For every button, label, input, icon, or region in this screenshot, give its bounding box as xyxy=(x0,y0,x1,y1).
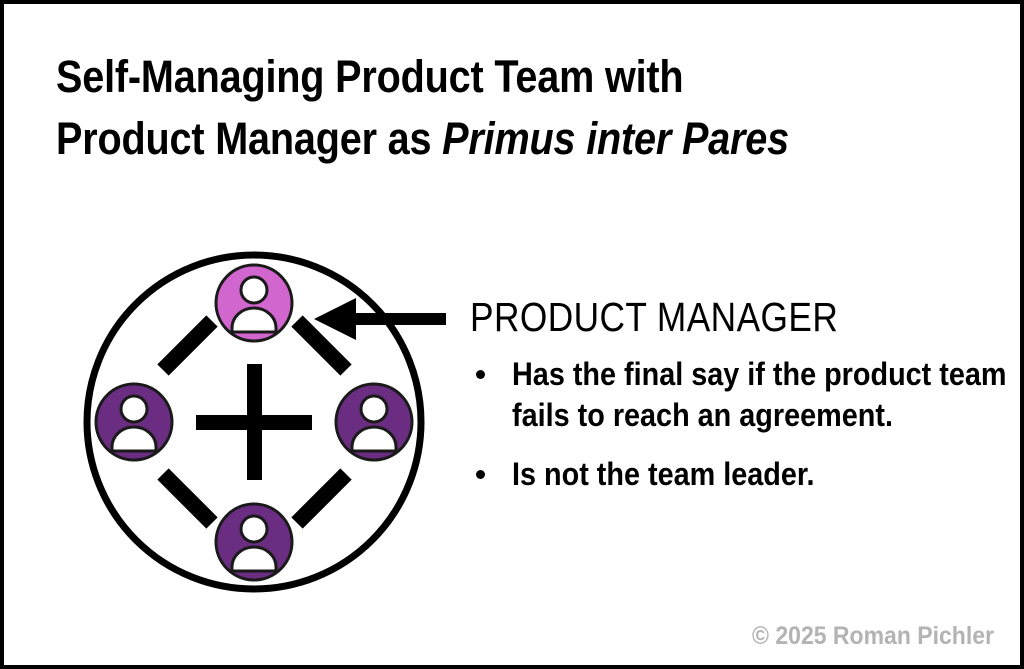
bullet-text: Is not the team leader. xyxy=(512,454,1009,495)
page-title: Self-Managing Product Team with Product … xyxy=(56,46,976,170)
connector-bottom-right xyxy=(297,474,346,523)
person-icon-head xyxy=(241,516,267,542)
avatar-product-manager[interactable] xyxy=(216,265,292,341)
team-diagram xyxy=(66,242,446,602)
avatar-team-member-bottom[interactable] xyxy=(216,504,292,580)
slide-canvas: Self-Managing Product Team with Product … xyxy=(0,0,1024,669)
connector-bottom-left xyxy=(163,474,212,523)
bullet-dot-icon xyxy=(476,470,485,479)
product-manager-callout-panel: PRODUCT MANAGER Has the final say if the… xyxy=(470,294,1010,513)
list-item: Is not the team leader. xyxy=(470,454,1010,495)
copyright-notice: © 2025 Roman Pichler xyxy=(752,621,994,651)
title-line-2-emphasis: Primus inter Pares xyxy=(442,113,789,164)
title-line-1: Self-Managing Product Team with xyxy=(56,46,866,108)
cross-horizontal-bar xyxy=(196,415,312,430)
center-cross-icon xyxy=(196,364,312,480)
avatar-team-member-left[interactable] xyxy=(96,384,172,460)
panel-bullet-list: Has the final say if the product team fa… xyxy=(470,354,1010,495)
connector-top-left xyxy=(163,321,212,370)
callout-arrow-to-product-manager xyxy=(314,298,446,340)
bullet-text: Has the final say if the product team fa… xyxy=(512,354,1009,436)
person-icon-head xyxy=(241,277,267,303)
title-line-2-prefix: Product Manager as xyxy=(56,113,442,164)
list-item: Has the final say if the product team fa… xyxy=(470,354,1010,436)
title-line-2: Product Manager as Primus inter Pares xyxy=(56,108,866,170)
bullet-dot-icon xyxy=(476,370,485,379)
person-icon-head xyxy=(361,396,387,422)
panel-heading: PRODUCT MANAGER xyxy=(470,294,934,340)
person-icon-head xyxy=(121,396,147,422)
avatar-team-member-right[interactable] xyxy=(336,384,412,460)
